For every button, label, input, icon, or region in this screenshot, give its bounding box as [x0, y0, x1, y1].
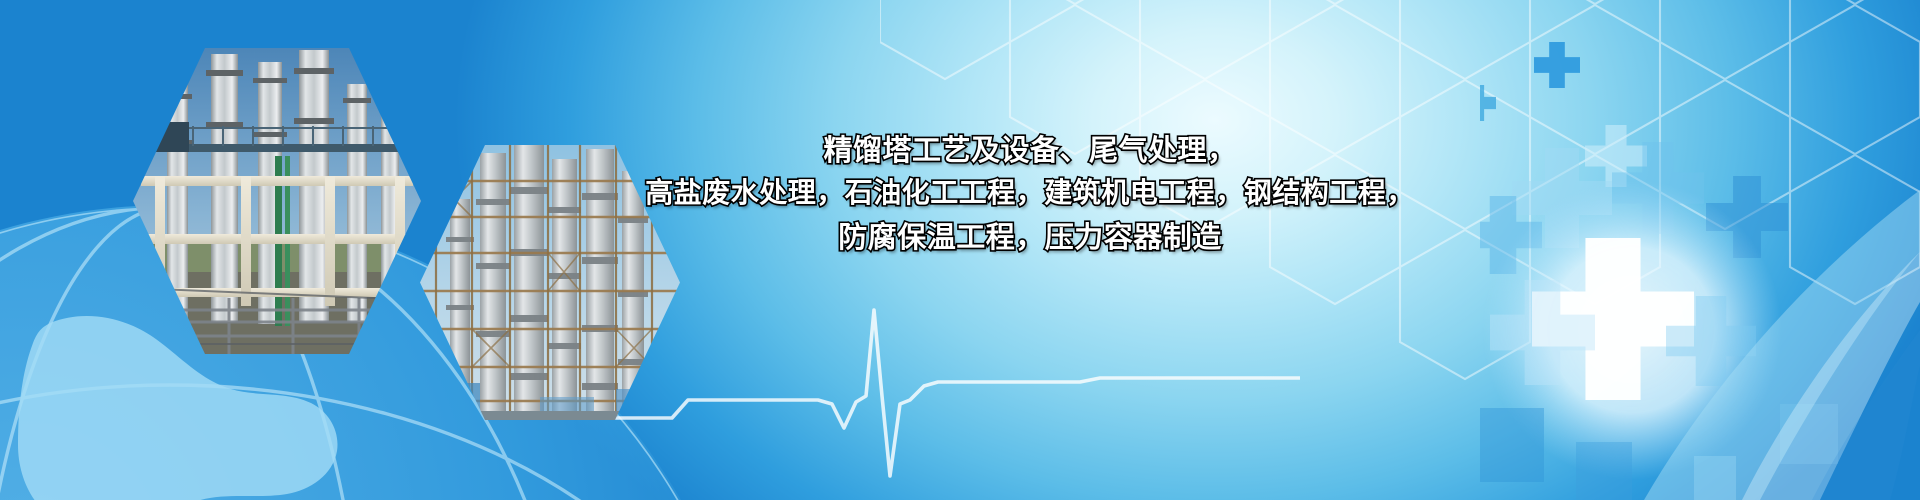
headline-line-3: 防腐保温工程，压力容器制造 — [640, 215, 1420, 259]
promotional-banner: 精馏塔工艺及设备、尾气处理， 高盐废水处理，石油化工工程，建筑机电工程，钢结构工… — [0, 0, 1920, 500]
hexagon-photo-distillation-plant — [133, 48, 421, 354]
ecg-pulse-line — [560, 300, 1300, 490]
headline-line-2: 高盐废水处理，石油化工工程，建筑机电工程，钢结构工程， — [640, 172, 1420, 215]
diagonal-sweep-graphic — [1560, 180, 1920, 500]
distillation-tower-plant-image — [133, 48, 421, 354]
headline-block: 精馏塔工艺及设备、尾气处理， 高盐废水处理，石油化工工程，建筑机电工程，钢结构工… — [640, 128, 1420, 259]
headline-line-1: 精馏塔工艺及设备、尾气处理， — [640, 128, 1420, 172]
cross-mosaic-graphic — [1480, 0, 1920, 500]
